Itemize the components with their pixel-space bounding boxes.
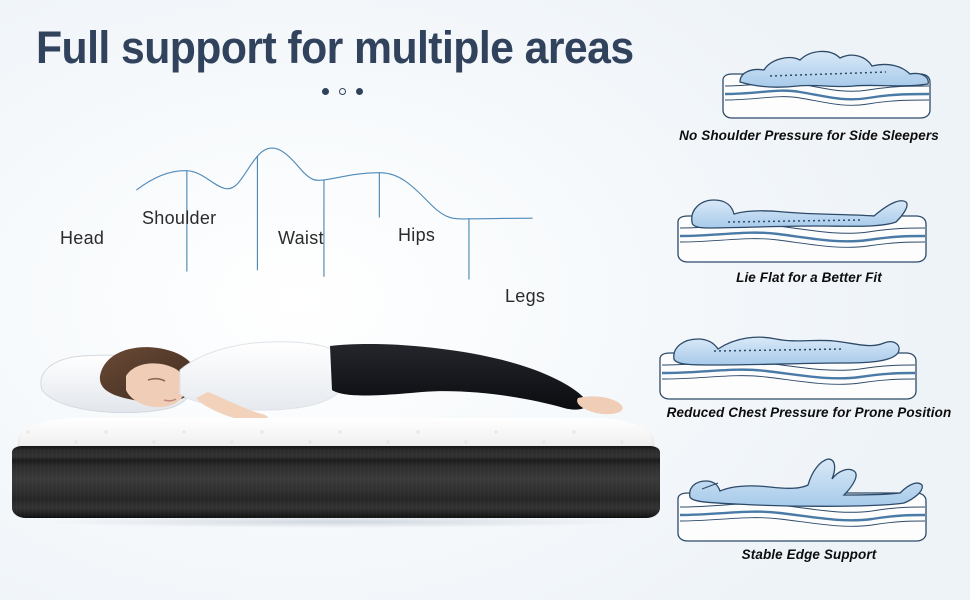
drop-lines <box>187 156 469 279</box>
zone-label-legs: Legs <box>505 286 545 307</box>
feature-panel-lie-flat: Lie Flat for a Better Fit <box>648 170 970 285</box>
diagram-edge-support <box>648 437 970 547</box>
product-feature-banner: Full support for multiple areas Head Sho… <box>0 0 970 600</box>
zone-label-head: Head <box>60 228 104 249</box>
diagram-prone-position <box>648 305 970 405</box>
feature-panel-list: No Shoulder Pressure for Side Sleepers L… <box>648 0 970 600</box>
zone-label-waist: Waist <box>278 228 324 249</box>
panel-caption: Lie Flat for a Better Fit <box>648 270 970 285</box>
panel-caption: No Shoulder Pressure for Side Sleepers <box>648 128 970 143</box>
pants <box>330 344 587 410</box>
body-silhouette <box>690 459 923 506</box>
sleeping-person-photo <box>30 318 630 428</box>
panel-caption: Reduced Chest Pressure for Prone Positio… <box>648 405 970 420</box>
mattress-side-border <box>12 446 660 518</box>
feature-panel-prone-position: Reduced Chest Pressure for Prone Positio… <box>648 305 970 420</box>
feet <box>577 396 623 414</box>
body-silhouette <box>674 337 899 365</box>
diagram-lie-flat <box>648 170 970 270</box>
body-silhouette <box>740 51 928 87</box>
zone-label-shoulder: Shoulder <box>142 208 216 229</box>
mattress <box>12 418 660 528</box>
feature-panel-edge-support: Stable Edge Support <box>648 437 970 562</box>
feature-panel-side-sleepers: No Shoulder Pressure for Side Sleepers <box>648 28 970 143</box>
panel-caption: Stable Edge Support <box>648 547 970 562</box>
mattress-photo-group: Head Shoulder Waist Hips Legs <box>0 0 660 600</box>
diagram-side-sleeper <box>648 28 970 128</box>
zone-label-hips: Hips <box>398 225 435 246</box>
body-silhouette <box>692 200 907 228</box>
mattress-shadow <box>38 516 638 528</box>
